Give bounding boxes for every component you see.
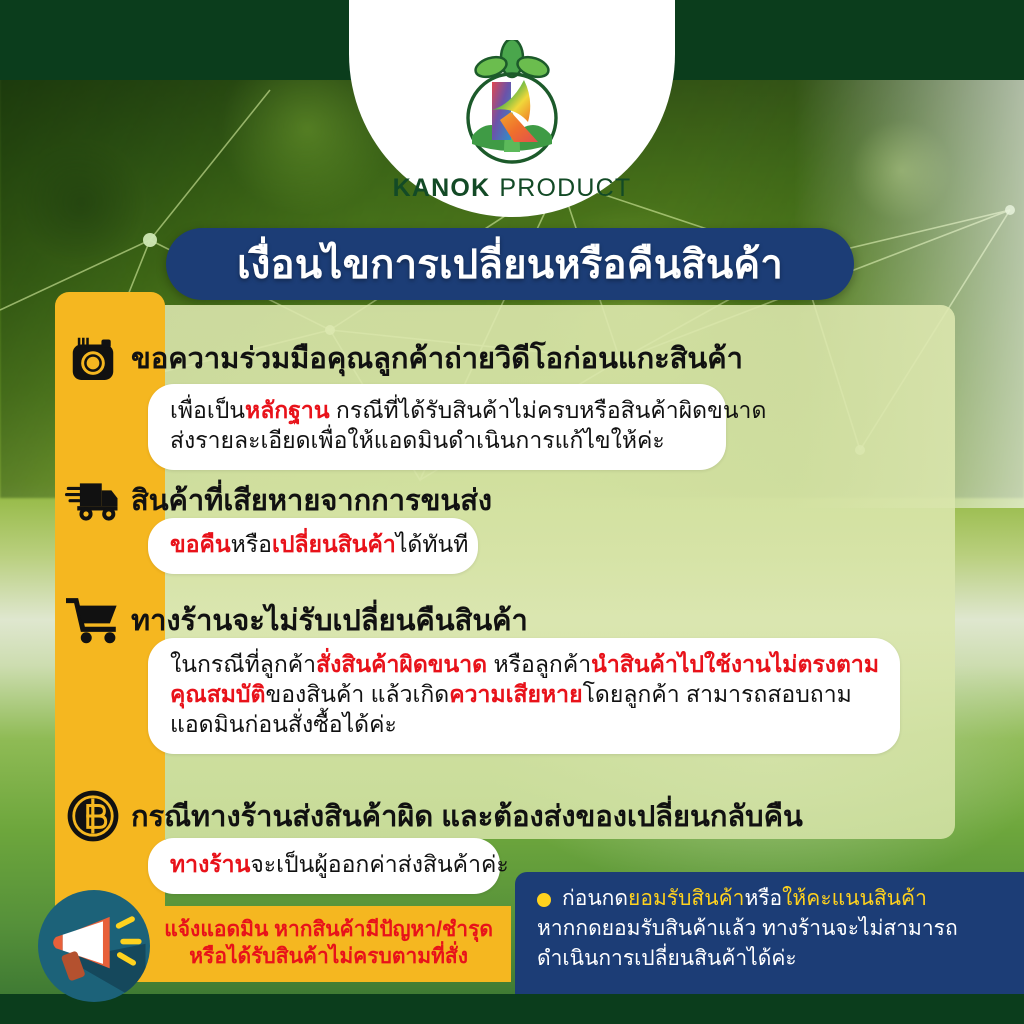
megaphone-badge — [38, 890, 150, 1002]
s2-hl1: ขอคืน — [170, 531, 231, 557]
section-3-line-3: แอดมินก่อนสั่งซื้อได้ค่ะ — [170, 710, 878, 740]
camera-icon — [55, 320, 131, 396]
brand-name-light: PRODUCT — [499, 174, 631, 202]
note-line-3: ดำเนินการเปลี่ยนสินค้าได้ค่ะ — [537, 944, 1008, 974]
section-1-title: ขอความร่วมมือคุณลูกค้าถ่ายวิดีโอก่อนแกะส… — [131, 335, 743, 381]
section-2-bubble: ขอคืนหรือเปลี่ยนสินค้าได้ทันที — [148, 518, 478, 574]
footer-dark-band — [0, 994, 1024, 1024]
s2-hl2: เปลี่ยนสินค้า — [272, 531, 396, 557]
section-3-line-2: คุณสมบัติของสินค้า แล้วเกิดความเสียหายโด… — [170, 680, 878, 710]
s4-tail: จะเป็นผู้ออกค่าส่งสินค้าค่ะ — [250, 851, 508, 877]
s3-l2b: โดยลูกค้า สามารถสอบถาม — [583, 681, 852, 707]
megaphone-icon — [38, 890, 150, 1002]
section-1-bubble: เพื่อเป็นหลักฐาน กรณีที่ได้รับสินค้าไม่ค… — [148, 384, 726, 470]
baht-coin-icon — [55, 778, 131, 854]
s3-l1a: ในกรณีที่ลูกค้า — [170, 651, 316, 677]
note-line-1-row: ก่อนกดยอมรับสินค้าหรือให้คะแนนสินค้า — [537, 884, 1008, 914]
bullet-dot-icon — [537, 893, 551, 907]
kanok-leaf-k-logo-icon — [442, 40, 582, 172]
s3-l2-hl1: คุณสมบัติ — [170, 681, 265, 707]
brand-name-bold: KANOK — [393, 174, 491, 202]
note-l1-mid: หรือ — [744, 887, 782, 910]
delivery-truck-icon — [55, 462, 131, 538]
s1-l1b: กรณีที่ได้รับสินค้าไม่ครบหรือสินค้าผิดขน… — [330, 397, 767, 423]
s3-l1-hl1: สั่งสินค้าผิดขนาด — [316, 651, 487, 677]
note-l1-hl2: ให้คะแนนสินค้า — [782, 887, 927, 910]
page-title: เงื่อนไขการเปลี่ยนหรือคืนสินค้า — [237, 232, 783, 296]
brand-logo-badge: KANOKPRODUCT — [349, 0, 675, 217]
s2-mid: หรือ — [231, 531, 272, 557]
section-2-title: สินค้าที่เสียหายจากการขนส่ง — [131, 477, 492, 523]
s1-l1-highlight: หลักฐาน — [245, 397, 330, 423]
s2-tail: ได้ทันที — [396, 531, 469, 557]
contact-admin-line-2: หรือได้รับสินค้าไม่ครบตามที่สั่ง — [164, 944, 493, 971]
section-2-line-1: ขอคืนหรือเปลี่ยนสินค้าได้ทันที — [170, 530, 456, 560]
section-3-bubble: ในกรณีที่ลูกค้าสั่งสินค้าผิดขนาด หรือลูก… — [148, 638, 900, 754]
s4-hl: ทางร้าน — [170, 851, 250, 877]
s1-l1a: เพื่อเป็น — [170, 397, 245, 423]
section-3-line-1: ในกรณีที่ลูกค้าสั่งสินค้าผิดขนาด หรือลูก… — [170, 650, 878, 680]
page-title-banner: เงื่อนไขการเปลี่ยนหรือคืนสินค้า — [166, 228, 854, 300]
note-l1a: ก่อนกด — [562, 887, 628, 910]
s3-l1b: หรือลูกค้า — [487, 651, 591, 677]
shopping-cart-icon — [55, 582, 131, 658]
section-4-bubble: ทางร้านจะเป็นผู้ออกค่าส่งสินค้าค่ะ — [148, 838, 500, 894]
note-line-1: ก่อนกดยอมรับสินค้าหรือให้คะแนนสินค้า — [562, 884, 927, 914]
return-policy-poster: KANOKPRODUCT เงื่อนไขการเปลี่ยนหรือคืนสิ… — [0, 0, 1024, 1024]
brand-wordmark: KANOKPRODUCT — [393, 174, 632, 203]
s3-l1-hl2: นำสินค้าไปใช้งานไม่ตรงตาม — [591, 651, 879, 677]
s3-l2a: ของสินค้า แล้วเกิด — [265, 681, 449, 707]
note-l1-hl1: ยอมรับสินค้า — [628, 887, 744, 910]
contact-admin-text: แจ้งแอดมิน หากสินค้ามีปัญหา/ชำรุด หรือได… — [164, 917, 493, 971]
section-4-title: กรณีทางร้านส่งสินค้าผิด และต้องส่งของเปล… — [131, 793, 803, 839]
note-line-2: หากกดยอมรับสินค้าแล้ว ทางร้านจะไม่สามารถ — [537, 914, 1008, 944]
section-1-line-2: ส่งรายละเอียดเพื่อให้แอดมินดำเนินการแก้ไ… — [170, 426, 704, 456]
section-3-title: ทางร้านจะไม่รับเปลี่ยนคืนสินค้า — [131, 597, 528, 643]
section-4-line-1: ทางร้านจะเป็นผู้ออกค่าส่งสินค้าค่ะ — [170, 850, 478, 880]
s3-l2-hl2: ความเสียหาย — [449, 681, 582, 707]
acceptance-warning-note: ก่อนกดยอมรับสินค้าหรือให้คะแนนสินค้า หาก… — [515, 872, 1024, 994]
contact-admin-line-1: แจ้งแอดมิน หากสินค้ามีปัญหา/ชำรุด — [164, 917, 493, 944]
section-1-line-1: เพื่อเป็นหลักฐาน กรณีที่ได้รับสินค้าไม่ค… — [170, 396, 704, 426]
